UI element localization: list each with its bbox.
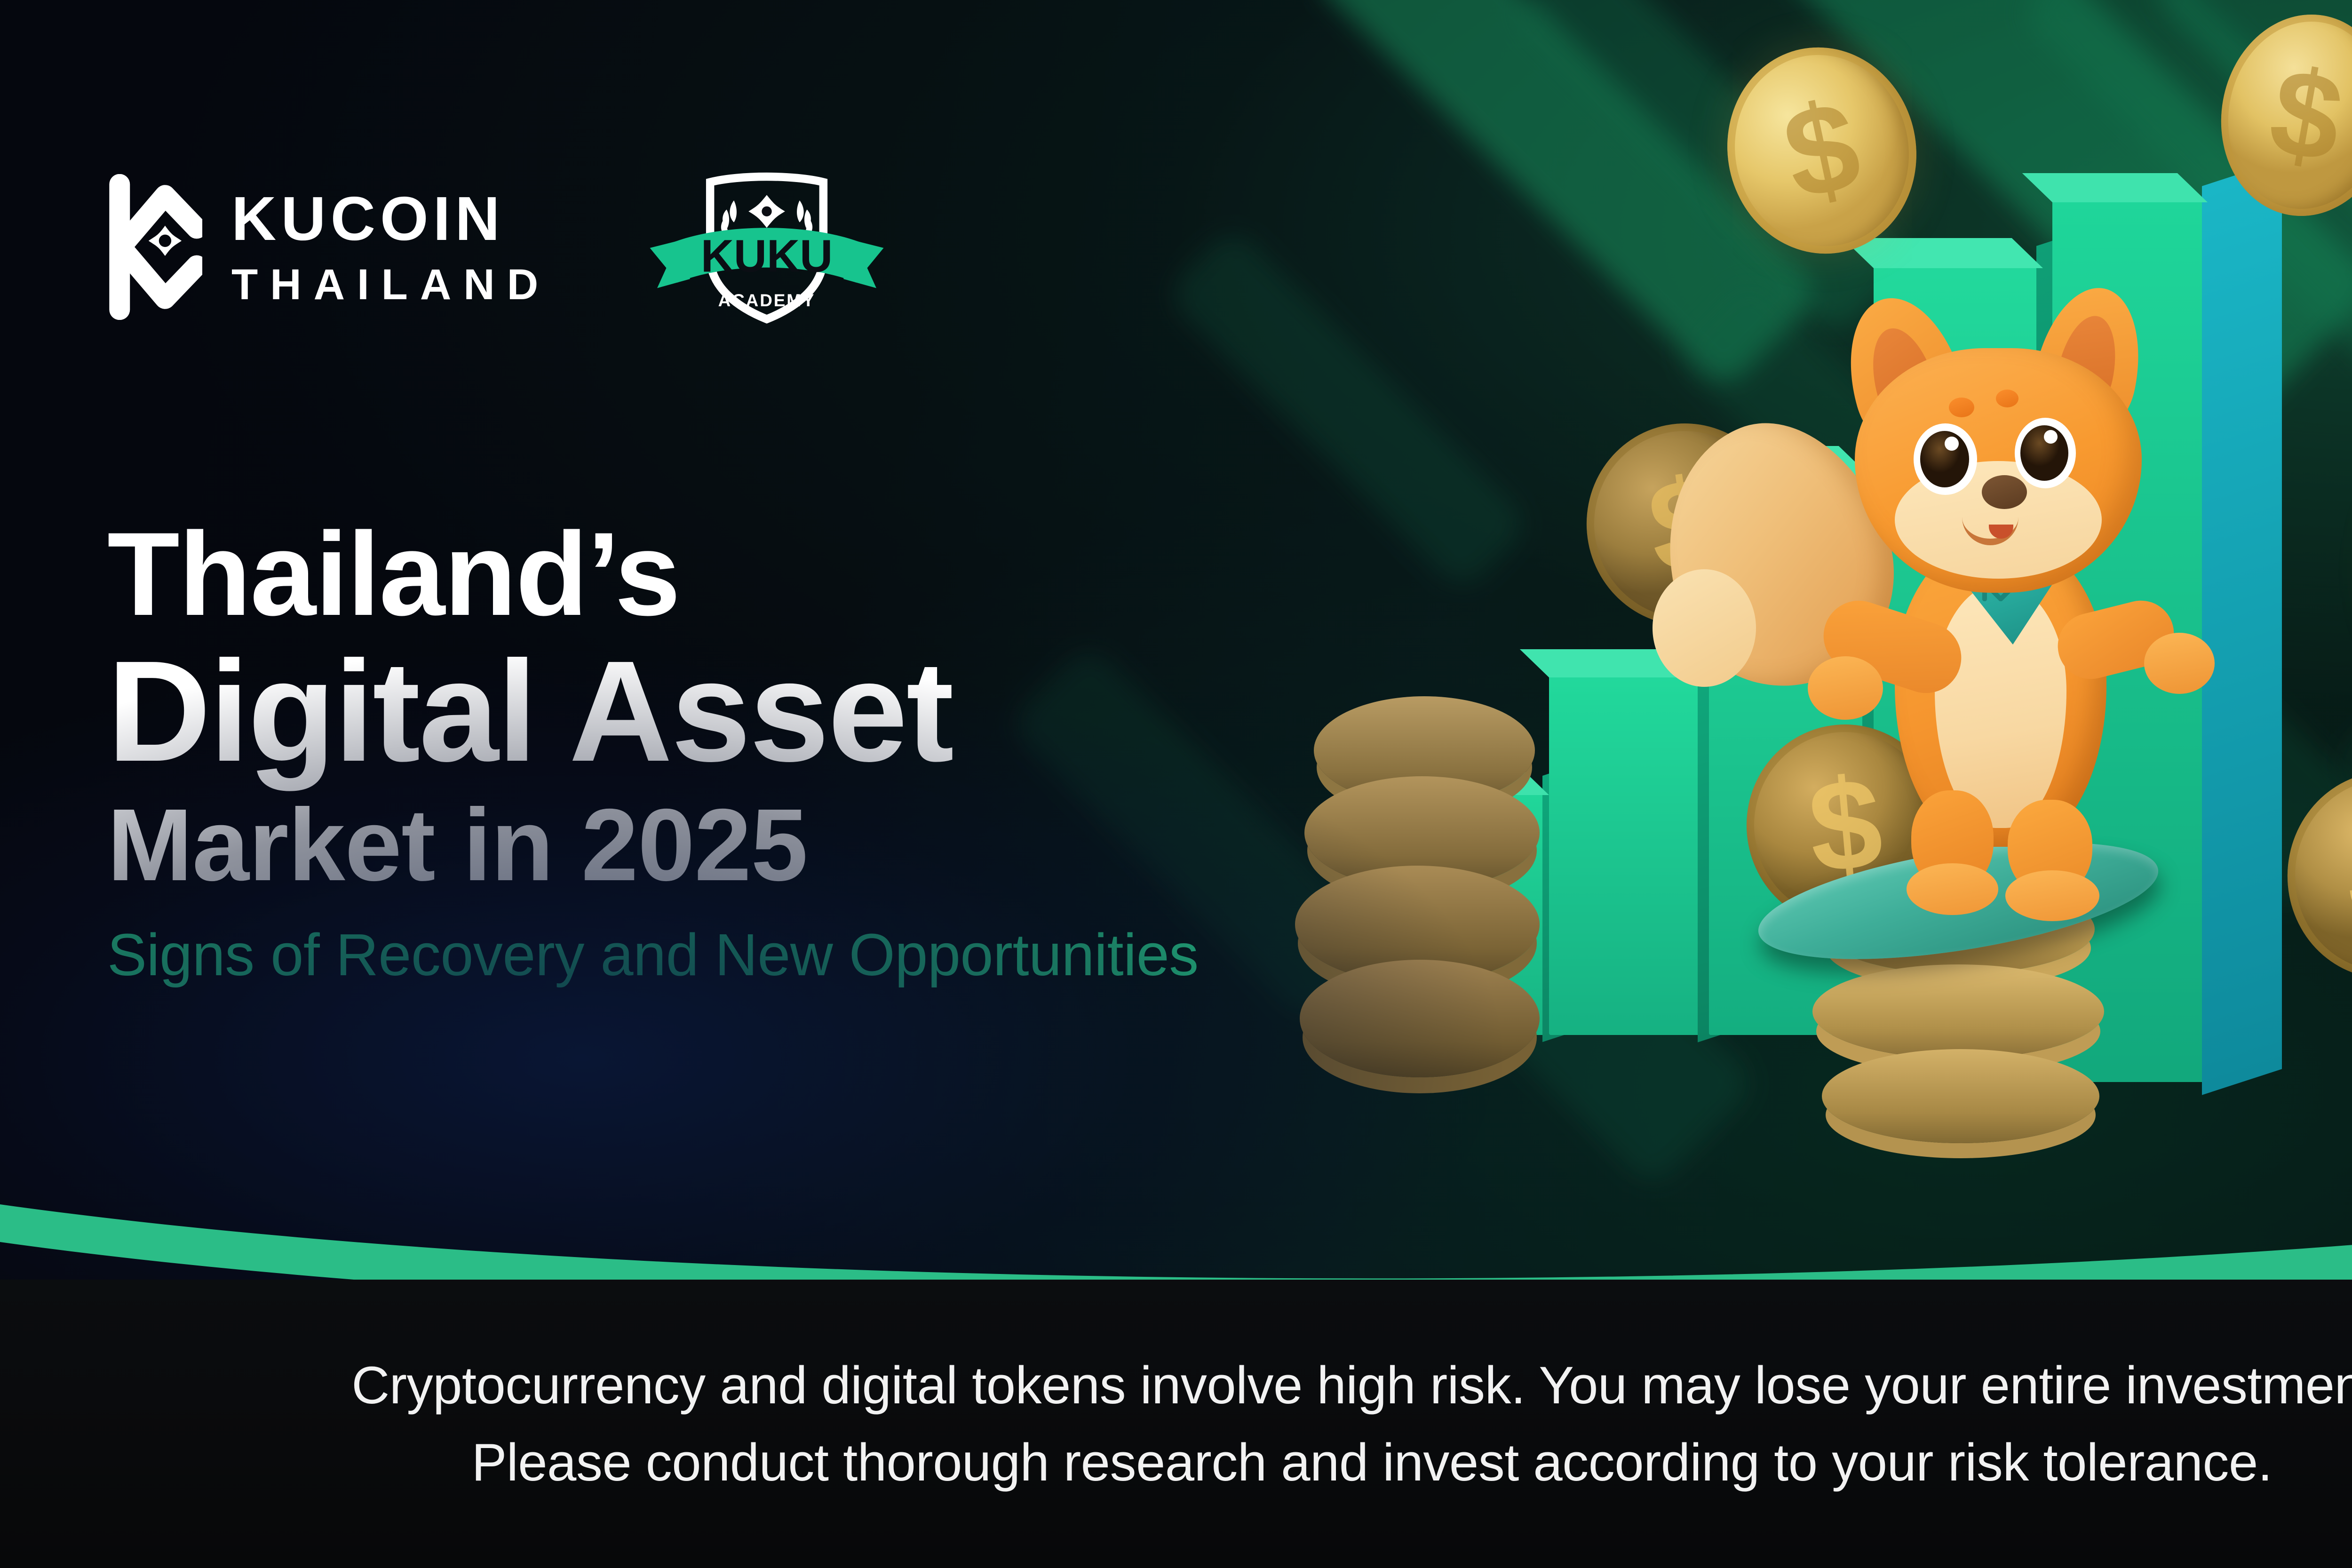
disclaimer-footer: Cryptocurrency and digital tokens involv… [0,1280,2352,1568]
hero-subtitle: Signs of Recovery and New Opportunities [107,921,1377,989]
kuku-fox-mascot [1794,282,2217,908]
headline-line-3: Market in 2025 [107,791,1377,899]
mascot-eye-left [1914,423,1977,495]
academy-text: ACADEMY [718,291,816,310]
mascot-spot-2 [1996,390,2018,407]
kucoin-wordmark: KUCOIN [231,188,550,250]
disclaimer-line-1: Cryptocurrency and digital tokens involv… [351,1347,2352,1424]
hero-section: $ $ $ $ $ $ [0,0,2352,1280]
hero-artwork: $ $ $ $ $ $ [1286,0,2352,1280]
mascot-spot-1 [1949,398,1974,417]
kucoin-k-mark-icon [106,174,202,320]
mascot-eye-right [2015,418,2076,488]
coin-lower-right: $ [2277,762,2352,988]
kucoin-thailand-promo-banner: $ $ $ $ $ $ [0,0,2352,1568]
disclaimer-line-2: Please conduct thorough research and inv… [472,1424,2273,1501]
headline-line-2: Digital Asset [107,638,1377,784]
kuku-ribbon-text: KUKU [701,230,833,281]
mascot-nose [1982,475,2027,509]
thailand-wordmark: THAILAND [231,263,550,306]
headline-line-1: Thailand’s [107,513,1377,636]
kucoin-thailand-logo[interactable]: KUCOIN THAILAND [106,174,550,320]
coin-top-left: $ [1708,30,1936,271]
kuku-academy-shield-icon[interactable]: KUKU ACADEMY [635,169,898,325]
coin-top-right: $ [2205,1,2352,230]
hero-copy: Thailand’s Digital Asset Market in 2025 … [107,513,1377,989]
brand-logo-row: KUCOIN THAILAND [106,169,898,325]
